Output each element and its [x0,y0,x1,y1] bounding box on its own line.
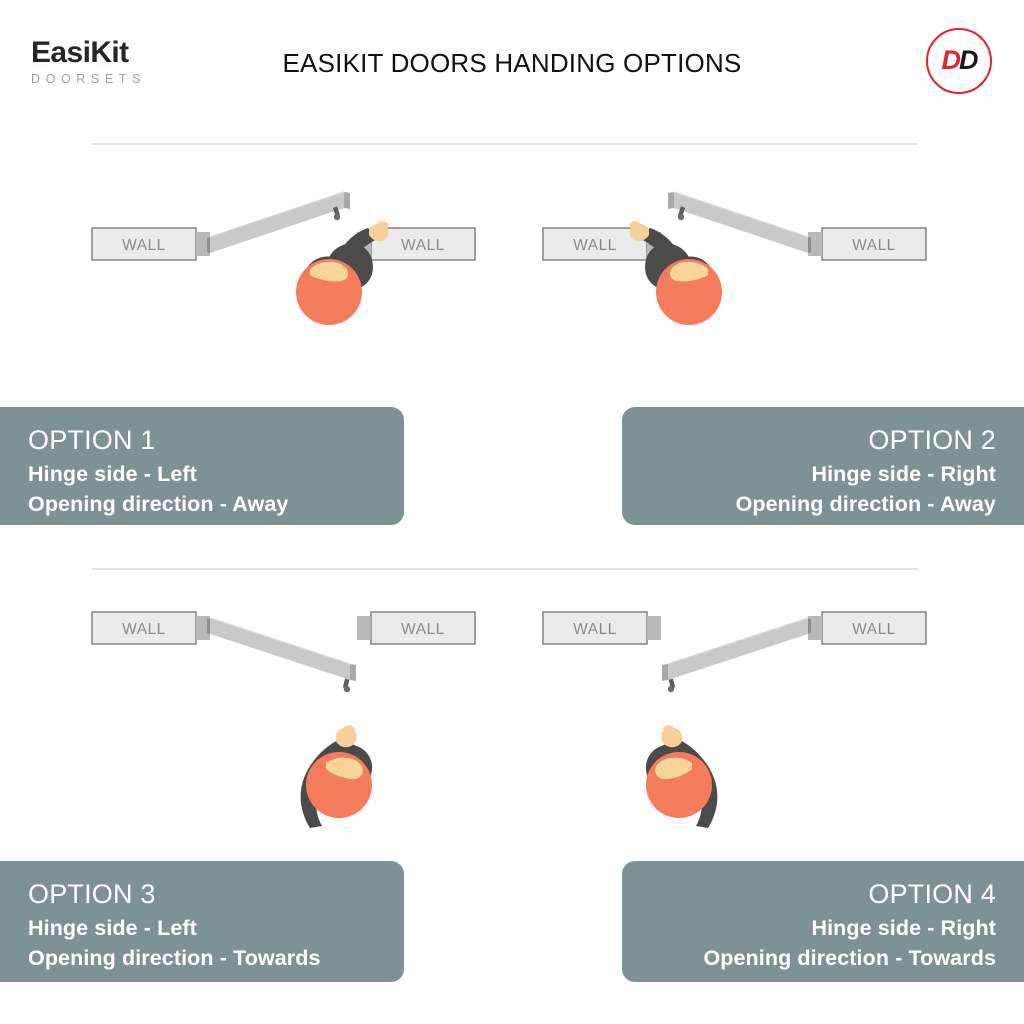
option-2-hinge-side: Hinge side - Right [650,459,996,490]
option-panel-1[interactable]: OPTION 1 Hinge side - Left Opening direc… [0,407,404,525]
wall-left: WALL [92,228,210,260]
person-figure [629,221,722,325]
door-leaf [207,618,356,681]
option-panel-3[interactable]: OPTION 3 Hinge side - Left Opening direc… [0,861,404,982]
wall-label-left: WALL [573,621,617,638]
dd-brand-badge: DD [926,28,992,94]
wall-label-left: WALL [122,237,166,254]
option-panel-4[interactable]: OPTION 4 Hinge side - Right Opening dire… [622,861,1024,982]
dd-badge-letters: DD [942,47,977,74]
door-diagram-option-2: WALL WALL [520,180,930,330]
wall-label-left: WALL [573,237,617,254]
divider-middle [92,568,918,570]
option-3-hinge-side: Hinge side - Left [28,913,376,944]
wall-label-right: WALL [852,621,896,638]
dd-letter-black: D [959,45,977,75]
door-leaf [207,192,350,253]
header: EasiKit DOORSETS EASIKIT DOORS HANDING O… [0,0,1024,128]
option-1-hinge-side: Hinge side - Left [28,459,376,490]
door-diagram-option-1: WALL WALL [88,180,498,330]
wall-label-right: WALL [401,621,445,638]
dd-letter-red: D [942,45,960,75]
door-leaf [662,618,811,681]
wall-right: WALL [357,612,475,644]
door-handle [343,679,350,693]
infographic-page: EasiKit DOORSETS EASIKIT DOORS HANDING O… [0,0,1024,1024]
page-title: EASIKIT DOORS HANDING OPTIONS [0,48,1024,79]
option-4-title: OPTION 4 [650,879,996,911]
door-diagram-option-4: WALL WALL [520,600,930,835]
option-3-title: OPTION 3 [28,879,376,911]
option-2-opening-direction: Opening direction - Away [650,489,996,520]
door-leaf [668,192,811,253]
wall-label-right: WALL [852,237,896,254]
option-4-hinge-side: Hinge side - Right [650,913,996,944]
door-handle [668,679,675,693]
option-3-opening-direction: Opening direction - Towards [28,943,376,974]
option-panel-2[interactable]: OPTION 2 Hinge side - Right Opening dire… [622,407,1024,525]
option-1-opening-direction: Opening direction - Away [28,489,376,520]
person-figure [301,725,372,828]
option-1-title: OPTION 1 [28,425,376,457]
person-figure [646,725,717,828]
divider-top [92,143,918,145]
wall-left: WALL [92,612,210,644]
wall-label-right: WALL [401,237,445,254]
wall-label-left: WALL [122,621,166,638]
option-2-title: OPTION 2 [650,425,996,457]
door-diagram-option-3: WALL WALL [88,600,498,835]
person-figure [296,221,389,325]
option-4-opening-direction: Opening direction - Towards [650,943,996,974]
